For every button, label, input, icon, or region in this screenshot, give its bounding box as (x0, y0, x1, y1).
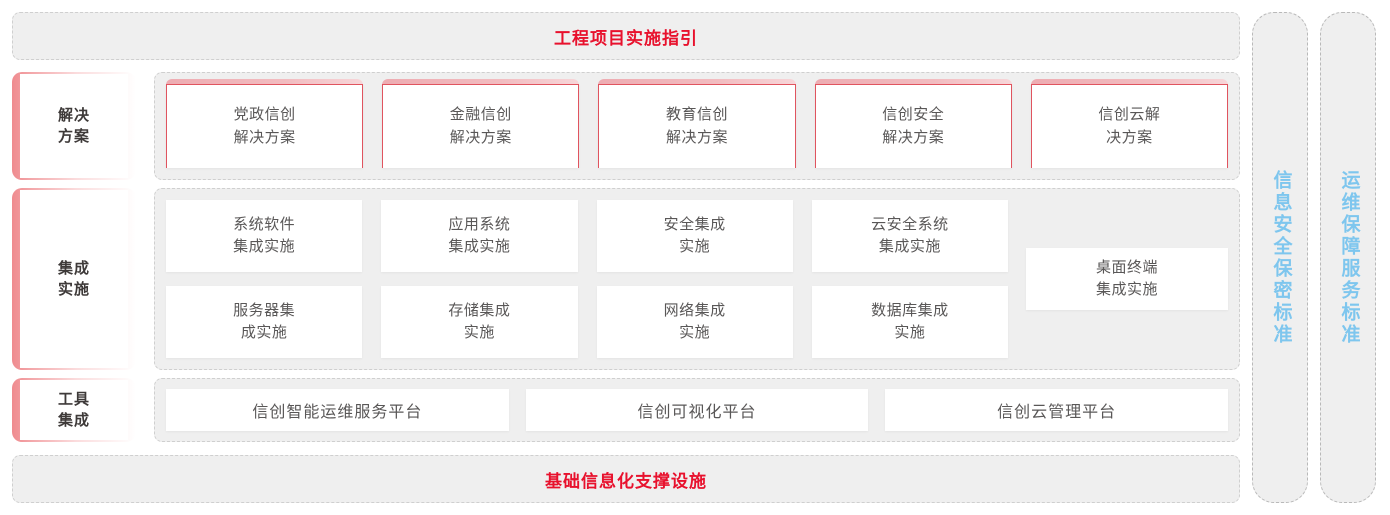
card-label-line2: 决方案 (1098, 127, 1160, 150)
card-label-line2: 集成实施 (233, 236, 295, 259)
card-label: 信创安全 解决方案 (882, 104, 944, 149)
solution-card[interactable]: 信创云解 决方案 (1031, 84, 1228, 168)
card-label-line2: 实施 (664, 236, 726, 259)
side-column-ops-standard[interactable]: 运维保障服务标准 (1320, 12, 1376, 503)
card-label-line1: 教育信创 (666, 104, 728, 127)
row-label-tools-inner: 工具 集成 (20, 380, 128, 440)
card-label: 教育信创 解决方案 (666, 104, 728, 149)
integration-card[interactable]: 网络集成 实施 (597, 286, 793, 358)
card-label-line1: 网络集成 (664, 300, 726, 323)
card-label: 数据库集成 实施 (871, 300, 949, 345)
card-body: 教育信创 解决方案 (598, 84, 795, 168)
integration-container: 系统软件 集成实施 应用系统 集成实施 (154, 188, 1240, 370)
integration-card[interactable]: 数据库集成 实施 (812, 286, 1008, 358)
card-label: 信创云解 决方案 (1098, 104, 1160, 149)
tools-container: 信创智能运维服务平台 信创可视化平台 信创云管理平台 (154, 378, 1240, 442)
card-label: 党政信创 解决方案 (234, 104, 296, 149)
tools-card-grid: 信创智能运维服务平台 信创可视化平台 信创云管理平台 (166, 389, 1228, 431)
card-label-line1: 系统软件 (233, 214, 295, 237)
side-column-ops-standard-label: 运维保障服务标准 (1335, 170, 1362, 346)
tool-card-label: 信创智能运维服务平台 (252, 398, 422, 422)
row-label-solution-text: 解决 方案 (58, 105, 90, 148)
tool-card[interactable]: 信创云管理平台 (885, 389, 1228, 431)
integration-row-2: 服务器集 成实施 存储集成 实施 (166, 286, 1008, 358)
integration-card[interactable]: 存储集成 实施 (381, 286, 577, 358)
card-label: 系统软件 集成实施 (233, 214, 295, 259)
diagram-root: 工程项目实施指引 解决 方案 (0, 0, 1390, 515)
integration-grid: 系统软件 集成实施 应用系统 集成实施 (166, 200, 1228, 358)
tool-card[interactable]: 信创可视化平台 (526, 389, 869, 431)
card-label: 应用系统 集成实施 (448, 214, 510, 259)
card-label-line2: 解决方案 (666, 127, 728, 150)
row-label-tools-line2: 集成 (58, 410, 90, 431)
tool-card-label: 信创可视化平台 (638, 398, 757, 422)
card-label: 服务器集 成实施 (233, 300, 295, 345)
row-label-integration-inner: 集成 实施 (20, 190, 128, 368)
spacer (136, 378, 154, 442)
row-label-solution-line1: 解决 (58, 105, 90, 126)
card-label-line1: 信创云解 (1098, 104, 1160, 127)
spacer (136, 188, 154, 370)
tool-card-label: 信创云管理平台 (997, 398, 1116, 422)
side-column-security-standard[interactable]: 信息安全保密标准 (1252, 12, 1308, 503)
integration-card[interactable]: 安全集成 实施 (597, 200, 793, 272)
card-label-line2: 解决方案 (234, 127, 296, 150)
row-label-integration-line2: 实施 (58, 279, 90, 300)
integration-right-slot: 桌面终端 集成实施 (1026, 200, 1228, 358)
solution-card[interactable]: 信创安全 解决方案 (815, 84, 1012, 168)
card-label-line2: 集成实施 (871, 236, 949, 259)
card-body: 信创云解 决方案 (1031, 84, 1228, 168)
row-label-solution: 解决 方案 (12, 72, 136, 180)
row-label-solution-line2: 方案 (58, 126, 90, 147)
integration-left-grid: 系统软件 集成实施 应用系统 集成实施 (166, 200, 1008, 358)
card-label: 桌面终端 集成实施 (1096, 257, 1158, 302)
integration-card[interactable]: 云安全系统 集成实施 (812, 200, 1008, 272)
row-tools: 工具 集成 信创智能运维服务平台 信创可视化平台 信创云管理平台 (12, 378, 1240, 442)
row-label-integration-line1: 集成 (58, 258, 90, 279)
row-label-solution-inner: 解决 方案 (20, 74, 128, 178)
card-label-line2: 解决方案 (882, 127, 944, 150)
card-label-line1: 数据库集成 (871, 300, 949, 323)
spacer (136, 72, 154, 180)
card-label-line1: 金融信创 (450, 104, 512, 127)
card-label-line1: 信创安全 (882, 104, 944, 127)
card-body: 党政信创 解决方案 (166, 84, 363, 168)
card-label-line1: 党政信创 (234, 104, 296, 127)
card-label-line2: 集成实施 (448, 236, 510, 259)
card-label-line1: 应用系统 (448, 214, 510, 237)
solution-card[interactable]: 党政信创 解决方案 (166, 84, 363, 168)
integration-row-1: 系统软件 集成实施 应用系统 集成实施 (166, 200, 1008, 272)
row-integration: 集成 实施 系统软件 集成实施 (12, 188, 1240, 370)
solution-container: 党政信创 解决方案 金融信创 解决方案 (154, 72, 1240, 180)
card-label: 安全集成 实施 (664, 214, 726, 259)
side-column-security-standard-label: 信息安全保密标准 (1267, 170, 1294, 346)
card-label-line1: 云安全系统 (871, 214, 949, 237)
main-column: 工程项目实施指引 解决 方案 (12, 12, 1240, 503)
card-label: 金融信创 解决方案 (450, 104, 512, 149)
card-label-line2: 实施 (448, 322, 510, 345)
card-label-line2: 实施 (871, 322, 949, 345)
row-label-tools-text: 工具 集成 (58, 389, 90, 432)
row-label-tools-line1: 工具 (58, 389, 90, 410)
page-title: 工程项目实施指引 (554, 24, 698, 49)
integration-card-desktop-terminal[interactable]: 桌面终端 集成实施 (1026, 248, 1228, 310)
footer-banner: 基础信息化支撑设施 (12, 455, 1240, 503)
card-label: 网络集成 实施 (664, 300, 726, 345)
solution-card[interactable]: 教育信创 解决方案 (598, 84, 795, 168)
card-label-line2: 解决方案 (450, 127, 512, 150)
card-body: 信创安全 解决方案 (815, 84, 1012, 168)
card-label-line2: 成实施 (233, 322, 295, 345)
integration-card[interactable]: 服务器集 成实施 (166, 286, 362, 358)
tool-card[interactable]: 信创智能运维服务平台 (166, 389, 509, 431)
solution-card-grid: 党政信创 解决方案 金融信创 解决方案 (166, 84, 1228, 168)
row-label-tools: 工具 集成 (12, 378, 136, 442)
solution-card[interactable]: 金融信创 解决方案 (382, 84, 579, 168)
header-banner: 工程项目实施指引 (12, 12, 1240, 60)
footer-title: 基础信息化支撑设施 (545, 467, 707, 492)
row-solution: 解决 方案 党政信创 解决方案 (12, 72, 1240, 180)
card-label-line1: 安全集成 (664, 214, 726, 237)
card-label: 存储集成 实施 (448, 300, 510, 345)
integration-card[interactable]: 系统软件 集成实施 (166, 200, 362, 272)
card-label-line2: 实施 (664, 322, 726, 345)
card-label-line1: 服务器集 (233, 300, 295, 323)
card-label-line1: 桌面终端 (1096, 257, 1158, 280)
integration-card[interactable]: 应用系统 集成实施 (381, 200, 577, 272)
card-label: 云安全系统 集成实施 (871, 214, 949, 259)
card-body: 金融信创 解决方案 (382, 84, 579, 168)
row-label-integration: 集成 实施 (12, 188, 136, 370)
row-label-integration-text: 集成 实施 (58, 258, 90, 301)
card-label-line1: 存储集成 (448, 300, 510, 323)
card-label-line2: 集成实施 (1096, 279, 1158, 302)
